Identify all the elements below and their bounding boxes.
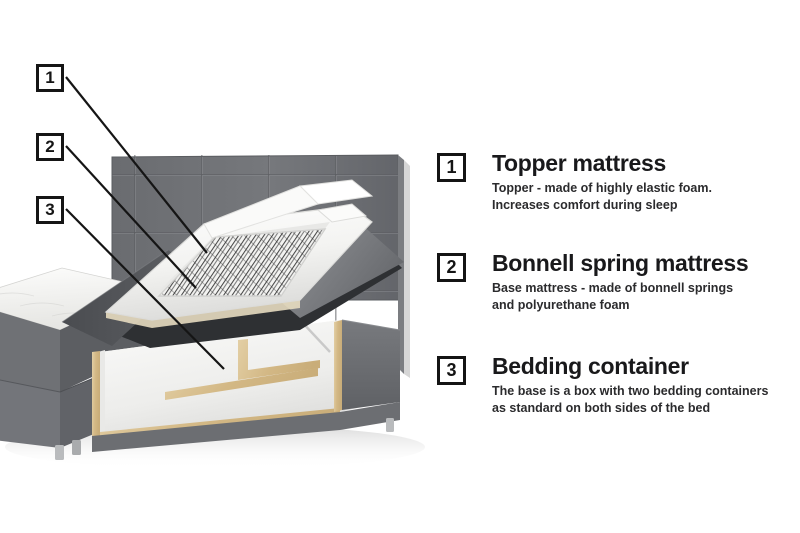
legend-desc-2-line1: Base mattress - made of bonnell springs bbox=[492, 280, 800, 297]
legend-body-3: Bedding container The base is a box with… bbox=[492, 353, 800, 417]
legend-desc-1-line1: Topper - made of highly elastic foam. bbox=[492, 180, 800, 197]
legend-body-2: Bonnell spring mattress Base mattress - … bbox=[492, 250, 800, 314]
legend-title-2: Bonnell spring mattress bbox=[492, 250, 800, 276]
legend-desc-2-line2: and polyurethane foam bbox=[492, 297, 800, 314]
bed-illustration: 1 2 3 bbox=[0, 0, 430, 533]
callout-box-2: 2 bbox=[36, 133, 64, 161]
bed-cutaway-svg bbox=[0, 0, 430, 533]
infographic-canvas: 1 2 3 1 Topper mattress Topper - made of… bbox=[0, 0, 800, 533]
legend-panel: 1 Topper mattress Topper - made of highl… bbox=[430, 0, 800, 533]
wood-edge-right bbox=[334, 320, 342, 412]
legend-desc-2: Base mattress - made of bonnell springs … bbox=[492, 280, 800, 314]
legend-number-2: 2 bbox=[437, 253, 466, 282]
legend-title-3: Bedding container bbox=[492, 353, 800, 379]
legend-number-1: 1 bbox=[437, 153, 466, 182]
callout-box-1: 1 bbox=[36, 64, 64, 92]
legend-desc-1-line2: Increases comfort during sleep bbox=[492, 197, 800, 214]
legend-body-1: Topper mattress Topper - made of highly … bbox=[492, 150, 800, 214]
bed-leg bbox=[55, 445, 64, 460]
legend-title-1: Topper mattress bbox=[492, 150, 800, 176]
legend-desc-3: The base is a box with two bedding conta… bbox=[492, 383, 800, 417]
legend-desc-3-line1: The base is a box with two bedding conta… bbox=[492, 383, 800, 400]
callout-box-3: 3 bbox=[36, 196, 64, 224]
legend-desc-1: Topper - made of highly elastic foam. In… bbox=[492, 180, 800, 214]
legend-number-3: 3 bbox=[437, 356, 466, 385]
bed-leg bbox=[386, 418, 394, 432]
bed-leg bbox=[72, 440, 81, 455]
legend-desc-3-line2: as standard on both sides of the bed bbox=[492, 400, 800, 417]
wood-edge-left bbox=[92, 351, 100, 438]
